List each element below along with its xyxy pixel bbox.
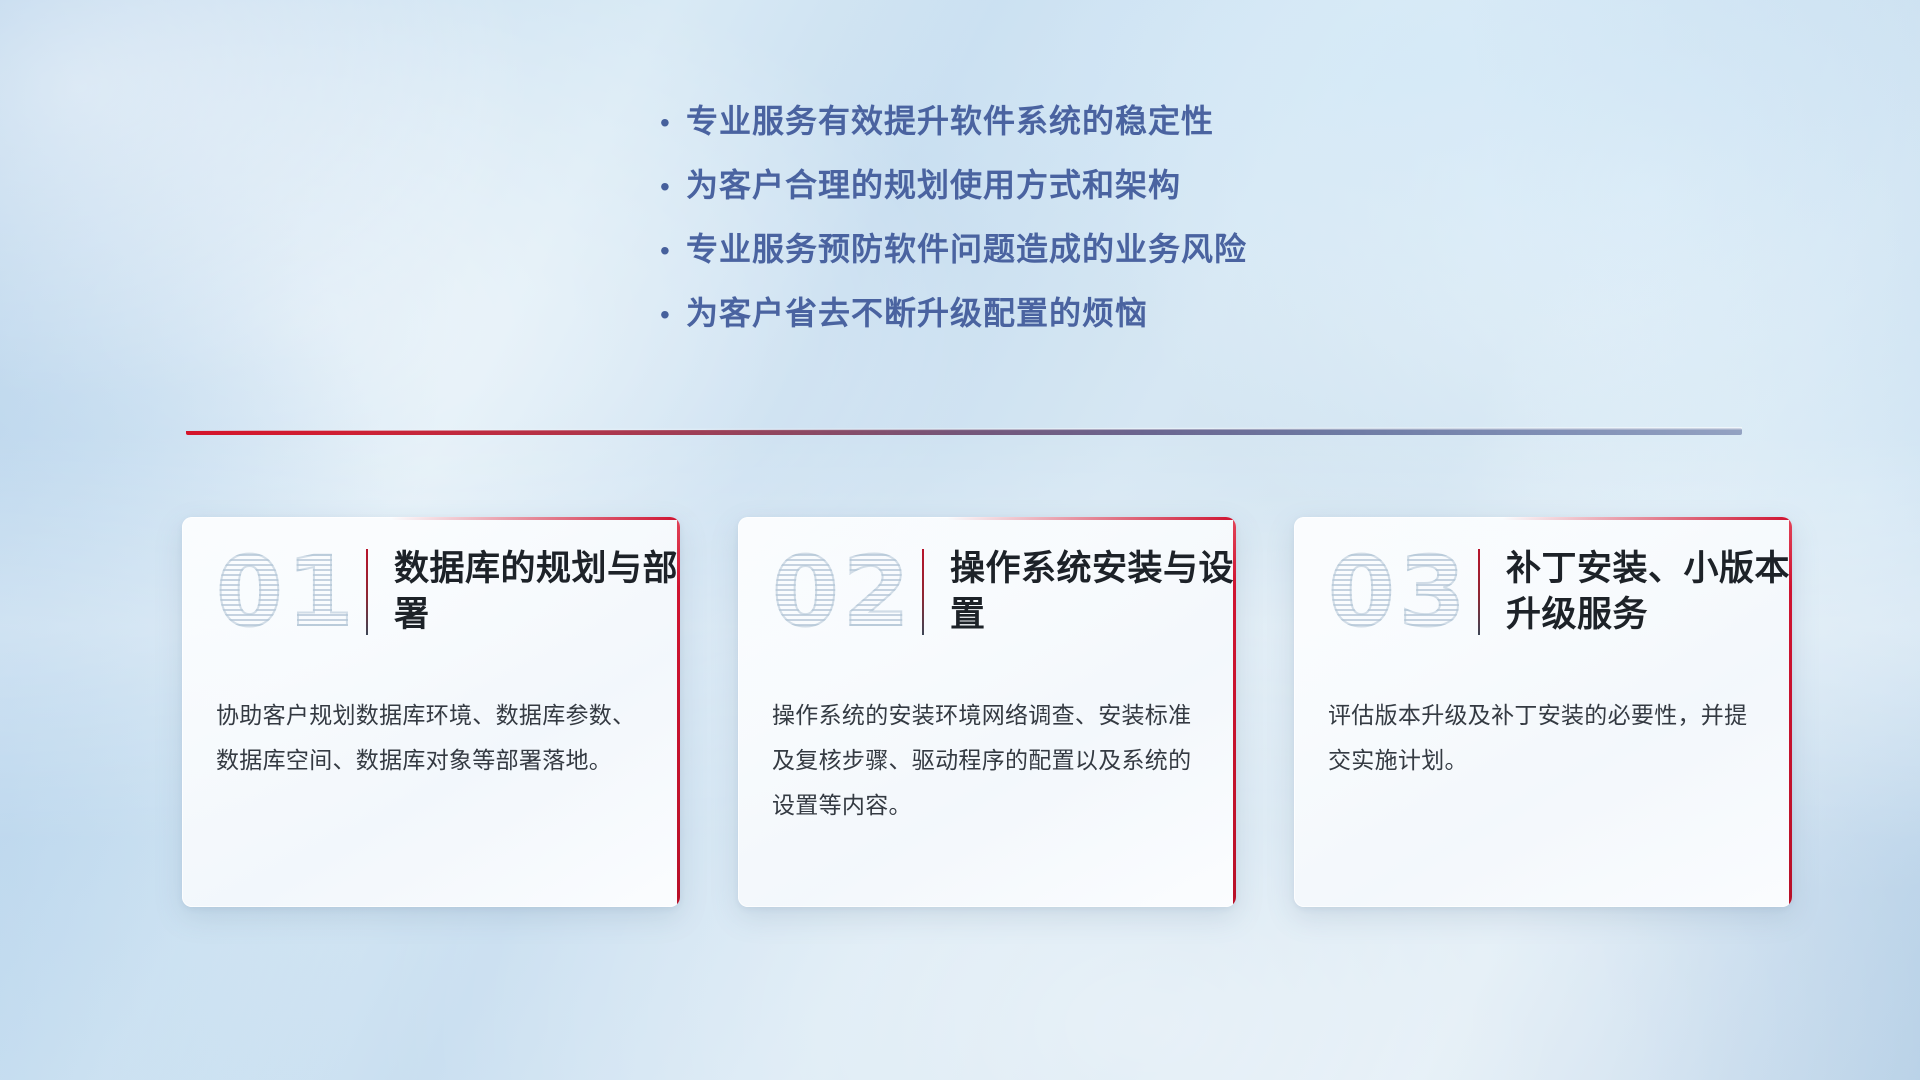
service-card-01[interactable]: 01 数据库的规划与部署 协助客户规划数据库环境、数据库参数、数据库空间、数据库… xyxy=(182,517,680,907)
card-number: 02 xyxy=(772,544,920,640)
card-number: 01 xyxy=(216,544,364,640)
gradient-divider xyxy=(186,424,1742,440)
card-title: 数据库的规划与部署 xyxy=(394,546,680,638)
card-number: 03 xyxy=(1328,544,1476,640)
bullet-text: 为客户省去不断升级配置的烦恼 xyxy=(686,288,1148,334)
bullet-text: 为客户合理的规划使用方式和架构 xyxy=(686,160,1181,206)
benefits-bullet-list: • 专业服务有效提升软件系统的稳定性 • 为客户合理的规划使用方式和架构 • 专… xyxy=(660,96,1420,352)
service-card-03[interactable]: 03 补丁安装、小版本升级服务 评估版本升级及补丁安装的必要性，并提交实施计划。 xyxy=(1294,517,1792,907)
card-header: 02 操作系统安装与设置 xyxy=(738,517,1236,667)
card-title-separator xyxy=(366,549,368,635)
bullet-dot-icon: • xyxy=(660,173,686,201)
service-card-grid: 01 数据库的规划与部署 协助客户规划数据库环境、数据库参数、数据库空间、数据库… xyxy=(182,517,1792,907)
service-card-02[interactable]: 02 操作系统安装与设置 操作系统的安装环境网络调查、安装标准及复核步骤、驱动程… xyxy=(738,517,1236,907)
bullet-dot-icon: • xyxy=(660,237,686,265)
slide-root: • 专业服务有效提升软件系统的稳定性 • 为客户合理的规划使用方式和架构 • 专… xyxy=(0,0,1920,1080)
card-body-text: 评估版本升级及补丁安装的必要性，并提交实施计划。 xyxy=(1294,667,1792,783)
list-item: • 为客户合理的规划使用方式和架构 xyxy=(660,160,1420,224)
card-body-text: 协助客户规划数据库环境、数据库参数、数据库空间、数据库对象等部署落地。 xyxy=(182,667,680,783)
list-item: • 为客户省去不断升级配置的烦恼 xyxy=(660,288,1420,352)
list-item: • 专业服务有效提升软件系统的稳定性 xyxy=(660,96,1420,160)
bullet-dot-icon: • xyxy=(660,301,686,329)
bullet-text: 专业服务预防软件问题造成的业务风险 xyxy=(686,224,1247,270)
bullet-dot-icon: • xyxy=(660,109,686,137)
card-title: 补丁安装、小版本升级服务 xyxy=(1506,546,1792,638)
bullet-text: 专业服务有效提升软件系统的稳定性 xyxy=(686,96,1214,142)
card-header: 01 数据库的规划与部署 xyxy=(182,517,680,667)
card-title-separator xyxy=(1478,549,1480,635)
list-item: • 专业服务预防软件问题造成的业务风险 xyxy=(660,224,1420,288)
card-title: 操作系统安装与设置 xyxy=(950,546,1236,638)
card-body-text: 操作系统的安装环境网络调查、安装标准及复核步骤、驱动程序的配置以及系统的设置等内… xyxy=(738,667,1236,828)
card-title-separator xyxy=(922,549,924,635)
card-header: 03 补丁安装、小版本升级服务 xyxy=(1294,517,1792,667)
